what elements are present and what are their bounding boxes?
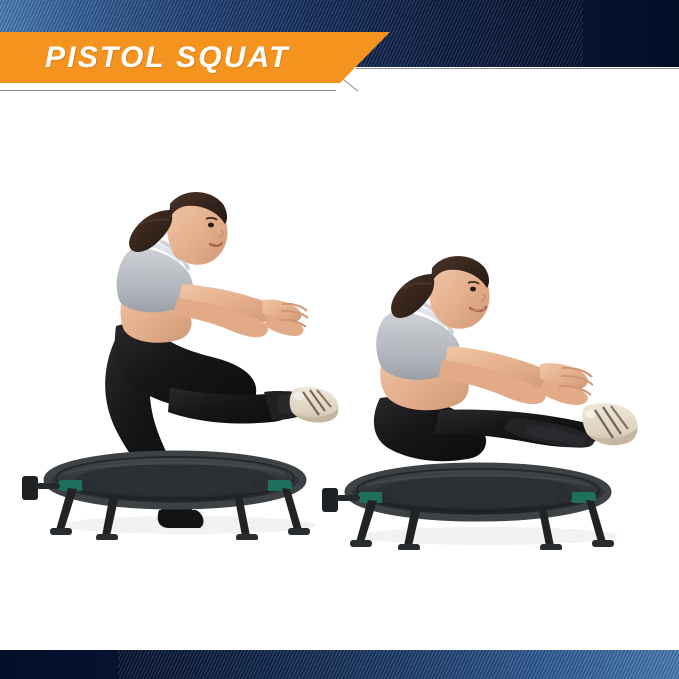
header-rule-left: [0, 90, 336, 91]
clip-cap-right: [556, 492, 572, 502]
header-blue-band-right-cap: [583, 0, 679, 67]
clip-cap-right: [252, 480, 268, 490]
clip-cap-left: [382, 492, 398, 502]
right-figure-illustration: [320, 250, 665, 550]
mat-surface: [74, 464, 276, 496]
exercise-photo: Descending into single-leg squat on mini…: [0, 95, 679, 650]
page-title: PISTOL SQUAT: [45, 39, 290, 76]
eye: [208, 223, 214, 228]
left-figure-group: Descending into single-leg squat on mini…: [20, 180, 350, 540]
mat-surface: [375, 476, 581, 508]
hands: [262, 299, 308, 336]
planted-foot: [158, 510, 204, 528]
eye: [470, 287, 476, 292]
hands: [540, 363, 593, 405]
exercise-card: PISTOL SQUAT: [0, 0, 679, 679]
clip-cap-left: [82, 480, 98, 490]
footer-blue-band-left-cap: [0, 650, 118, 679]
floor-shadow: [358, 527, 618, 545]
right-figure-group: Seated L-sit balance on mini trampoline: [320, 250, 665, 550]
header-rule-right: [356, 68, 679, 69]
left-figure-illustration: [20, 180, 350, 540]
